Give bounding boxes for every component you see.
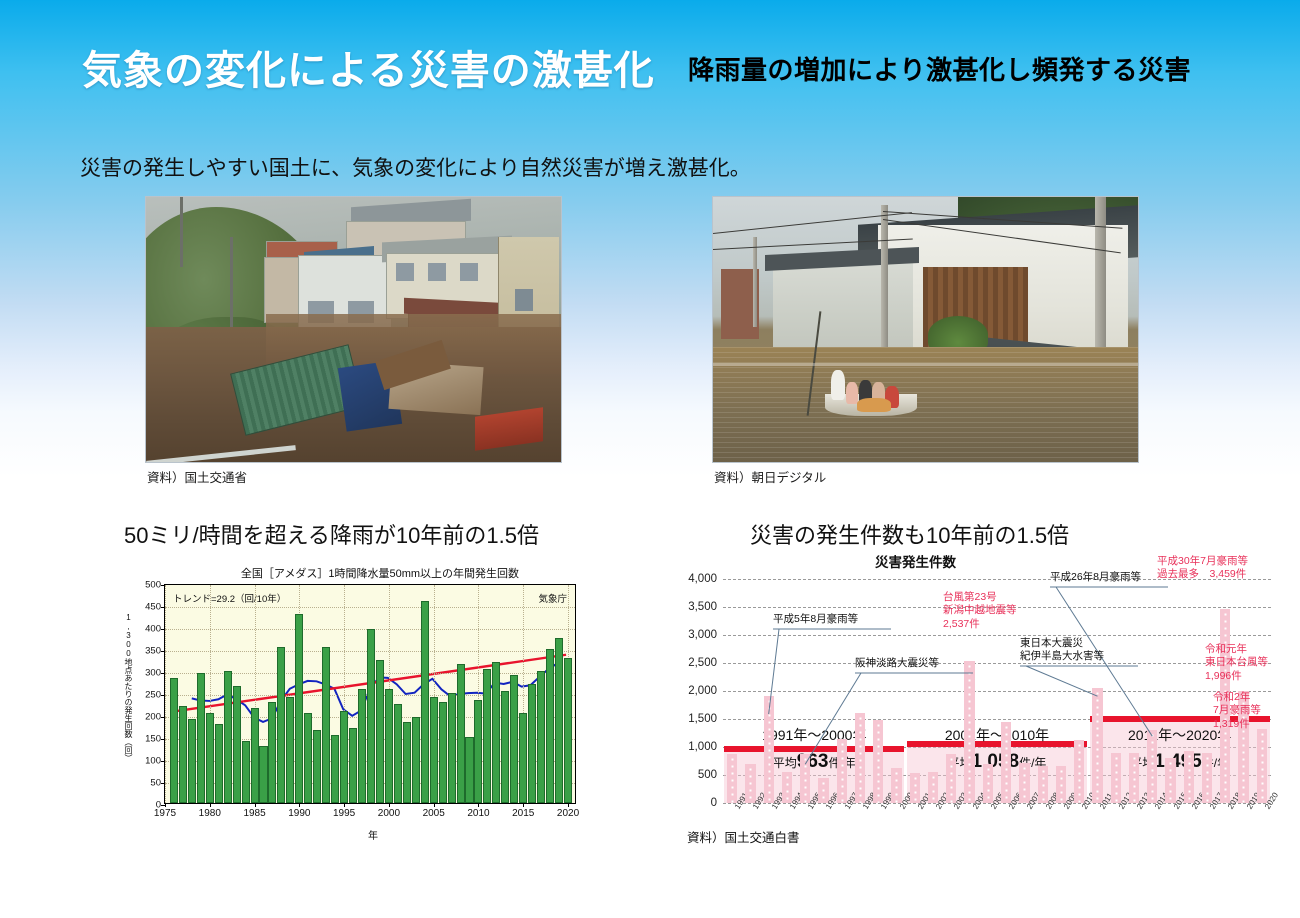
amedas-gridline <box>165 585 166 803</box>
slide-root: 気象の変化による災害の激甚化 降雨量の増加により激甚化し頻発する災害 災害の発生… <box>0 0 1300 918</box>
disasters-leader-line <box>1026 666 1097 696</box>
amedas-bar <box>519 713 527 803</box>
amedas-y-tick-label: 350 <box>145 646 161 657</box>
amedas-bar <box>457 664 465 803</box>
amedas-x-tick-label: 2005 <box>423 808 445 819</box>
amedas-x-tick <box>210 803 211 807</box>
disasters-annotation: 平成5年8月豪雨等 <box>773 613 858 626</box>
flood-photo-block: 資料）朝日デジタル <box>712 196 1139 486</box>
amedas-y-tick-label: 250 <box>145 690 161 701</box>
amedas-y-tick-label: 450 <box>145 602 161 613</box>
disasters-leader-line <box>769 629 779 714</box>
amedas-bar <box>233 686 241 803</box>
amedas-x-tick-label: 1990 <box>288 808 310 819</box>
amedas-bar <box>412 717 420 803</box>
disasters-annotation-line: 平成5年8月豪雨等 <box>773 613 858 626</box>
amedas-bar <box>259 746 267 803</box>
amedas-bar <box>537 671 545 803</box>
amedas-bar <box>197 673 205 803</box>
amedas-bar <box>286 697 294 803</box>
disasters-annotation: 令和元年東日本台風等1,996件 <box>1205 643 1268 683</box>
amedas-bar <box>546 649 554 803</box>
amedas-gridline <box>165 607 575 608</box>
amedas-x-tick <box>255 803 256 807</box>
disasters-annotation: 令和2年7月豪雨等1,319件 <box>1213 691 1261 731</box>
amedas-x-tick-label: 2020 <box>557 808 579 819</box>
amedas-x-axis-title: 年 <box>368 827 378 842</box>
landslide-photo <box>145 196 562 463</box>
disasters-annotation-line: 平成30年7月豪雨等 <box>1157 555 1248 568</box>
amedas-x-tick <box>568 803 569 807</box>
amedas-bar <box>188 719 196 803</box>
amedas-bar <box>349 728 357 803</box>
amedas-bar <box>528 684 536 803</box>
flood-photo <box>712 196 1139 463</box>
amedas-y-axis-title: 1,300地点あたりの発生回数（回） <box>120 613 134 762</box>
amedas-bar <box>215 724 223 803</box>
disasters-annotation-line: 7月豪雨等 <box>1213 704 1261 717</box>
amedas-bar <box>224 671 232 803</box>
amedas-bar <box>331 735 339 803</box>
amedas-bar <box>170 678 178 803</box>
amedas-x-tick-label: 2015 <box>512 808 534 819</box>
disasters-annotation-line: 紀伊半島大水害等 <box>1020 650 1104 663</box>
slide-header: 気象の変化による災害の激甚化 降雨量の増加により激甚化し頻発する災害 <box>0 38 1300 100</box>
photo-utility-pole <box>753 237 757 327</box>
amedas-y-tick-label: 200 <box>145 712 161 723</box>
amedas-bar <box>268 702 276 803</box>
page-subtitle: 降雨量の増加により激甚化し頻発する災害 <box>688 50 1191 87</box>
amedas-bar <box>394 704 402 803</box>
photo-window <box>428 263 446 281</box>
amedas-x-tick <box>299 803 300 807</box>
amedas-bar <box>385 689 393 803</box>
disasters-annotation-line: 東日本大震災 <box>1020 637 1104 650</box>
photo-person <box>846 382 858 404</box>
disasters-annotation-line: 1,319件 <box>1213 718 1261 731</box>
disasters-annotation-line: 東日本台風等 <box>1205 656 1268 669</box>
landslide-photo-caption: 資料）国土交通省 <box>145 467 562 486</box>
disasters-chart: 05001,0001,5002,0002,5003,0003,5004,0001… <box>665 565 1285 855</box>
amedas-bar <box>340 711 348 803</box>
amedas-bar <box>474 700 482 803</box>
amedas-x-tick-label: 1975 <box>154 808 176 819</box>
amedas-plot-area: トレンド=29.2（回/10年） 気象庁 0501001502002503003… <box>164 584 576 804</box>
amedas-bar <box>367 629 375 803</box>
amedas-y-tick-label: 100 <box>145 756 161 767</box>
amedas-bar <box>492 662 500 803</box>
amedas-bar <box>251 708 259 803</box>
amedas-bar <box>483 669 491 803</box>
amedas-x-tick <box>478 803 479 807</box>
amedas-y-tick-label: 400 <box>145 624 161 635</box>
disasters-annotation: 平成30年7月豪雨等過去最多 3,459件 <box>1157 555 1248 582</box>
disasters-annotation-line: 過去最多 3,459件 <box>1157 568 1248 581</box>
left-chart-heading: 50ミリ/時間を超える降雨が10年前の1.5倍 <box>124 518 539 550</box>
amedas-y-tick-label: 300 <box>145 668 161 679</box>
amedas-bar <box>430 697 438 803</box>
photo-person <box>831 370 845 400</box>
disasters-annotation: 阪神淡路大震災等 <box>855 657 939 670</box>
amedas-bar <box>322 647 330 803</box>
amedas-bar <box>448 693 456 803</box>
amedas-x-tick-label: 1980 <box>199 808 221 819</box>
disasters-leader-line <box>805 673 861 764</box>
amedas-y-tick-label: 500 <box>145 580 161 591</box>
amedas-bar <box>358 689 366 803</box>
amedas-x-tick <box>523 803 524 807</box>
amedas-bar <box>555 638 563 803</box>
amedas-x-tick <box>434 803 435 807</box>
amedas-chart: 全国［アメダス］1時間降水量50mm以上の年間発生回数 1,300地点あたりの発… <box>118 565 598 850</box>
disasters-annotation: 平成26年8月豪雨等 <box>1050 571 1141 584</box>
disasters-annotation: 東日本大震災紀伊半島大水害等 <box>1020 637 1104 664</box>
amedas-bar <box>206 713 214 803</box>
amedas-bar <box>403 722 411 803</box>
disasters-source-label: 資料）国土交通白書 <box>687 827 800 846</box>
disasters-annotation-line: 1,996件 <box>1205 670 1268 683</box>
amedas-bar <box>501 691 509 803</box>
disasters-annotation-line: 新潟中越地震等 <box>943 604 1017 617</box>
disasters-annotation: 台風第23号新潟中越地震等2,537件 <box>943 591 1017 631</box>
amedas-x-tick-label: 1995 <box>333 808 355 819</box>
amedas-y-tick-label: 150 <box>145 734 161 745</box>
disasters-annotation-line: 令和2年 <box>1213 691 1261 704</box>
disasters-annotation-line: 台風第23号 <box>943 591 1017 604</box>
photo-utility-pole <box>881 205 888 355</box>
amedas-bar <box>179 706 187 803</box>
amedas-bar <box>313 730 321 803</box>
photo-utility-pole <box>180 197 183 267</box>
right-chart-heading: 災害の発生件数も10年前の1.5倍 <box>750 518 1069 550</box>
amedas-bar <box>376 660 384 803</box>
photo-window <box>460 263 478 281</box>
amedas-y-tick-label: 50 <box>150 778 161 789</box>
photo-window <box>515 289 533 311</box>
amedas-x-tick <box>389 803 390 807</box>
disasters-annotation-line: 阪神淡路大震災等 <box>855 657 939 670</box>
amedas-bar <box>465 737 473 803</box>
amedas-bar <box>439 702 447 803</box>
amedas-bar <box>421 601 429 803</box>
amedas-bar <box>564 658 572 803</box>
amedas-bar <box>510 675 518 803</box>
landslide-photo-block: 資料）国土交通省 <box>145 196 562 486</box>
amedas-chart-title: 全国［アメダス］1時間降水量50mm以上の年間発生回数 <box>170 565 590 581</box>
amedas-x-tick-label: 1985 <box>243 808 265 819</box>
amedas-x-tick-label: 2000 <box>378 808 400 819</box>
disasters-annotation-line: 2,537件 <box>943 618 1017 631</box>
amedas-bar <box>277 647 285 803</box>
amedas-bar <box>295 614 303 803</box>
amedas-x-tick <box>165 803 166 807</box>
flood-photo-caption: 資料）朝日デジタル <box>712 467 1139 486</box>
lead-sentence: 災害の発生しやすい国土に、気象の変化により自然災害が増え激甚化。 <box>80 152 751 182</box>
disasters-annotation-line: 平成26年8月豪雨等 <box>1050 571 1141 584</box>
disasters-annotation-line: 令和元年 <box>1205 643 1268 656</box>
photo-waterline <box>713 363 1138 366</box>
photo-house <box>773 259 913 351</box>
photo-dog <box>857 398 891 412</box>
page-title: 気象の変化による災害の激甚化 <box>82 38 655 96</box>
amedas-x-tick-label: 2010 <box>467 808 489 819</box>
amedas-x-tick <box>344 803 345 807</box>
photo-window <box>396 263 414 281</box>
amedas-bar <box>242 741 250 803</box>
amedas-bar <box>304 713 312 803</box>
